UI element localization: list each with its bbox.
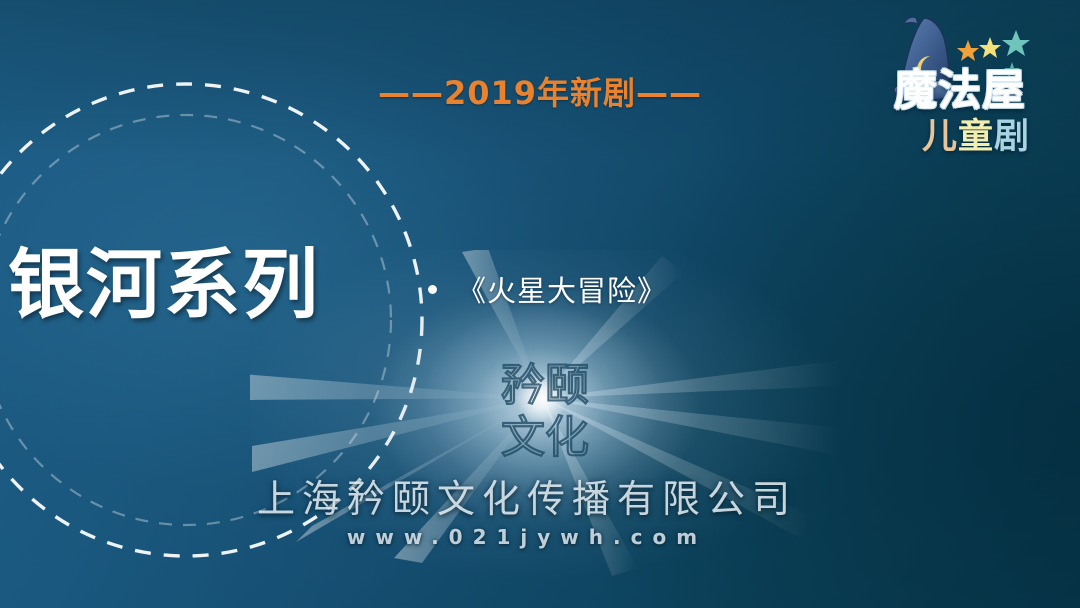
star-yellow [979, 37, 1001, 58]
brand-sub-char-3: 剧 [994, 117, 1030, 157]
list-item-label: 《火星大冒险》 [457, 268, 667, 310]
brand-sub-char-1: 儿 [922, 117, 958, 157]
bullet-dot-icon [428, 285, 437, 294]
brand-sub-char-2: 童 [958, 117, 994, 157]
list-item: 《火星大冒险》 [428, 268, 667, 310]
page-title: 银河系列 [8, 243, 320, 327]
watermark-company-name: 上海矜颐文化传播有限公司 [0, 468, 1067, 523]
star-teal [1002, 30, 1030, 56]
presentation-slide: 矜颐 文化 ——2019年新剧—— 银河系列 《火星大冒险》 上海矜颐文化传播有… [0, 0, 1080, 608]
brand-logo: 魔法屋 儿童剧 [886, 4, 1066, 154]
watermark-website-url: www.021jywh.com [0, 525, 1067, 549]
brand-logo-sub-text: 儿童剧 [922, 108, 1030, 159]
